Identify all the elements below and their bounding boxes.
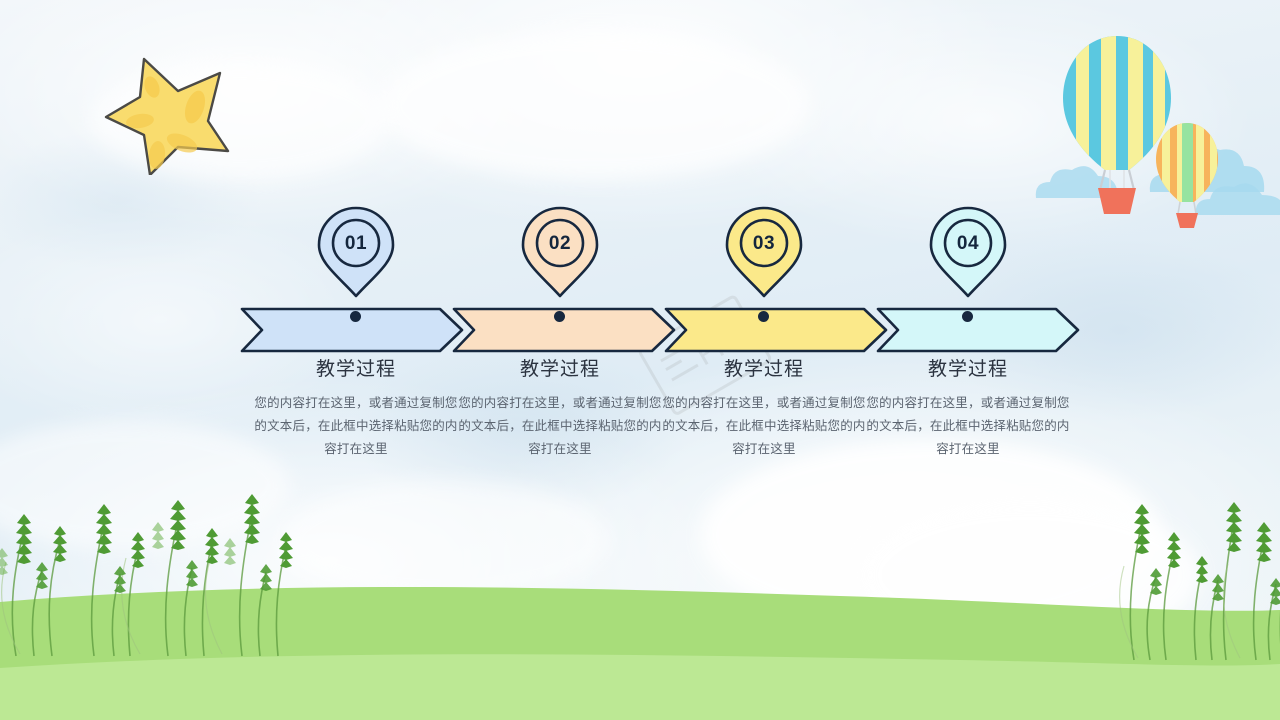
step-column-3: 教学过程 您的内容打在这里，或者通过复制您的文本后，在此框中选择粘贴您的内容打在…: [660, 358, 868, 460]
pin-number-3: 03: [725, 205, 803, 283]
timeline-text-columns: 教学过程 您的内容打在这里，或者通过复制您的文本后，在此框中选择粘贴您的内容打在…: [0, 358, 1280, 518]
step-column-4: 教学过程 您的内容打在这里，或者通过复制您的文本后，在此框中选择粘贴您的内容打在…: [864, 358, 1072, 460]
pin-marker-4[interactable]: 04: [929, 205, 1007, 299]
process-timeline: 01 02 03 04: [0, 0, 1280, 720]
timeline-dot-2: [554, 311, 565, 322]
pin-number-4: 04: [929, 205, 1007, 283]
step-body-2: 您的内容打在这里，或者通过复制您的文本后，在此框中选择粘贴您的内容打在这里: [456, 391, 664, 460]
pin-marker-1[interactable]: 01: [317, 205, 395, 299]
timeline-dot-3: [758, 311, 769, 322]
timeline-pins: 01 02 03 04: [0, 205, 1280, 305]
step-body-3: 您的内容打在这里，或者通过复制您的文本后，在此框中选择粘贴您的内容打在这里: [660, 391, 868, 460]
pin-marker-2[interactable]: 02: [521, 205, 599, 299]
step-column-2: 教学过程 您的内容打在这里，或者通过复制您的文本后，在此框中选择粘贴您的内容打在…: [456, 358, 664, 460]
step-title-4: 教学过程: [864, 358, 1072, 381]
timeline-dots: [0, 305, 1280, 325]
step-title-3: 教学过程: [660, 358, 868, 381]
step-body-1: 您的内容打在这里，或者通过复制您的文本后，在此框中选择粘贴您的内容打在这里: [252, 391, 460, 460]
pin-number-2: 02: [521, 205, 599, 283]
timeline-dot-1: [350, 311, 361, 322]
step-title-1: 教学过程: [252, 358, 460, 381]
step-body-4: 您的内容打在这里，或者通过复制您的文本后，在此框中选择粘贴您的内容打在这里: [864, 391, 1072, 460]
timeline-dot-4: [962, 311, 973, 322]
slide-canvas: PPT: [0, 0, 1280, 720]
pin-marker-3[interactable]: 03: [725, 205, 803, 299]
step-column-1: 教学过程 您的内容打在这里，或者通过复制您的文本后，在此框中选择粘贴您的内容打在…: [252, 358, 460, 460]
step-title-2: 教学过程: [456, 358, 664, 381]
pin-number-1: 01: [317, 205, 395, 283]
